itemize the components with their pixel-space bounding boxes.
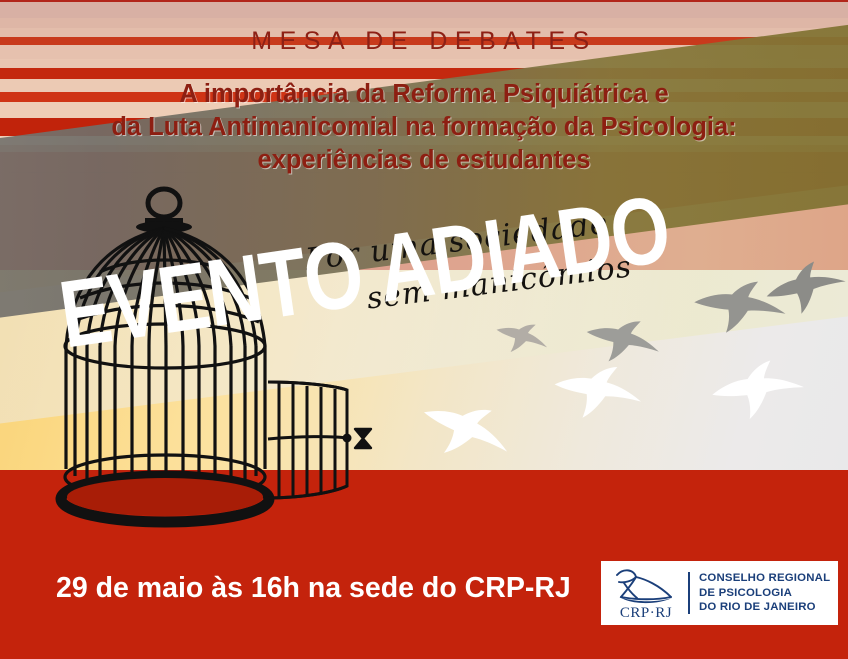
event-poster: MESA DE DEBATES A importância da Reforma… bbox=[0, 0, 848, 659]
bird-white-left bbox=[410, 383, 523, 479]
logo-divider bbox=[688, 572, 690, 614]
title-line-2: da Luta Antimanicomial na formação da Ps… bbox=[0, 111, 848, 144]
title-line-3: experiências de estudantes bbox=[0, 144, 848, 177]
dove-wave-mark-icon: CRP·RJ bbox=[601, 563, 687, 623]
poster-kicker: MESA DE DEBATES bbox=[0, 27, 848, 56]
bird-white-far-right bbox=[707, 355, 809, 425]
title-line-1: A importância da Reforma Psiquiátrica e bbox=[0, 78, 848, 111]
logo-acronym: CRP·RJ bbox=[607, 605, 685, 622]
event-date-line: 29 de maio às 16h na sede do CRP-RJ bbox=[56, 572, 571, 605]
bird-grey-mid bbox=[689, 273, 791, 341]
bird-grey-small-left bbox=[490, 312, 554, 364]
logo-line-1: CONSELHO REGIONAL bbox=[699, 571, 830, 585]
poster-title: A importância da Reforma Psiquiátrica e … bbox=[0, 78, 848, 177]
crp-rj-logo: CRP·RJ CONSELHO REGIONAL DE PSICOLOGIA D… bbox=[601, 561, 838, 625]
logo-wordmark: CONSELHO REGIONAL DE PSICOLOGIA DO RIO D… bbox=[699, 571, 830, 614]
logo-line-2: DE PSICOLOGIA bbox=[699, 586, 830, 600]
logo-line-3: DO RIO DE JANEIRO bbox=[699, 600, 830, 614]
